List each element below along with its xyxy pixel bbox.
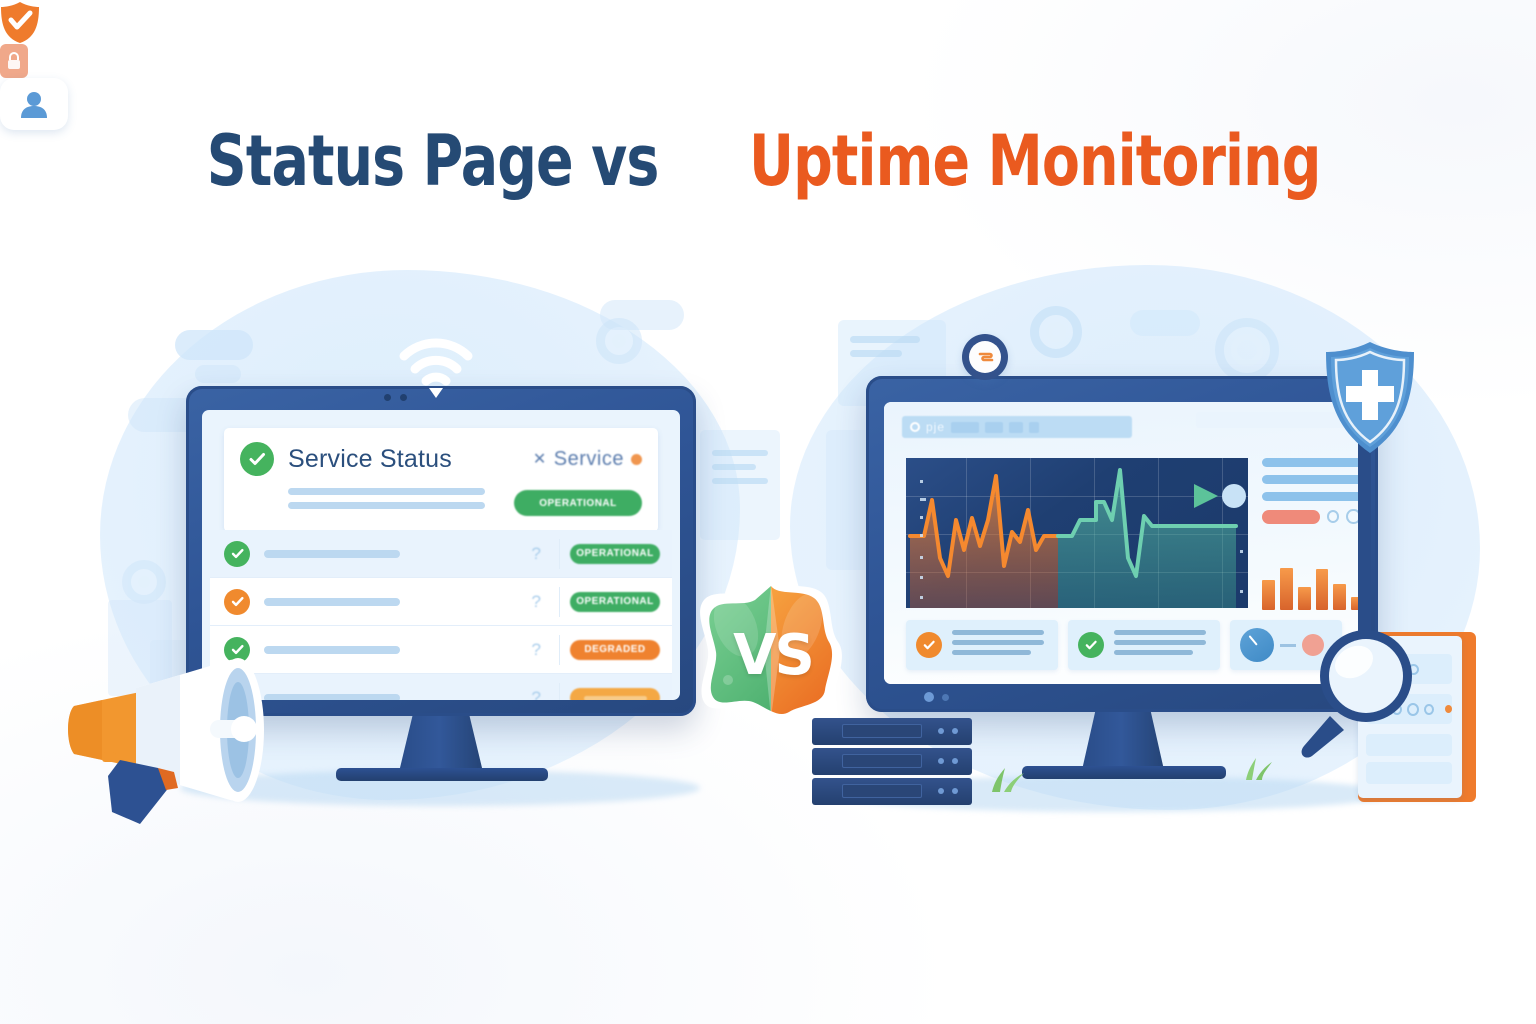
wifi-icon	[398, 336, 474, 398]
server-led	[952, 758, 958, 764]
check-circle-icon	[240, 442, 274, 476]
dashboard-side-panel	[1262, 458, 1360, 524]
webcam-dot	[384, 394, 391, 401]
background-cloud-icon	[195, 365, 241, 383]
row-value: ?	[532, 688, 549, 700]
url-placeholder-seg	[985, 422, 1003, 433]
vs-label: VS	[690, 580, 856, 730]
background-line	[712, 478, 768, 484]
status-badge[interactable]: Degraded	[570, 640, 660, 660]
status-badge[interactable]: Operational	[570, 544, 660, 564]
clipboard-row[interactable]	[1366, 762, 1452, 784]
magnifying-glass-icon	[1288, 620, 1418, 760]
background-gear-icon	[122, 560, 166, 604]
url-placeholder-seg	[1029, 422, 1039, 433]
mini-bar-chart	[1262, 552, 1360, 610]
circle-marker	[1222, 484, 1246, 508]
status-badge[interactable]	[1262, 510, 1320, 524]
background-line	[850, 336, 920, 343]
background-cloud-icon	[1130, 310, 1200, 336]
vs-badge: VS	[688, 576, 854, 726]
x-icon: ✕	[533, 449, 547, 469]
row-value: ?	[532, 544, 549, 564]
status-badge[interactable]: Operational	[514, 490, 642, 516]
chart-area-green	[1058, 470, 1236, 608]
background-line	[712, 464, 756, 470]
row-divider	[559, 539, 560, 569]
webcam-dot	[924, 692, 934, 702]
status-badge-inner	[584, 696, 647, 701]
placeholder-bar	[288, 488, 485, 495]
background-line	[700, 430, 780, 540]
chart-tick	[920, 534, 923, 537]
table-row[interactable]: ? Operational	[210, 578, 672, 626]
monitor-neck	[399, 716, 483, 772]
lock-icon	[0, 44, 28, 78]
check-circle-green-icon	[224, 541, 250, 567]
gear-badge-core	[969, 341, 1001, 373]
monitor-base	[336, 768, 548, 781]
gear-badge-icon	[962, 334, 1008, 380]
service-status-title: Service Status	[288, 445, 452, 474]
service-brand-label: ✕ Service	[533, 448, 642, 471]
grass-tuft	[986, 766, 1030, 792]
service-status-header: Service Status ✕ Service	[240, 442, 642, 476]
background-gear-icon	[1030, 306, 1082, 358]
response-time-chart	[906, 458, 1248, 608]
circle-icon	[1424, 704, 1434, 715]
bar	[1333, 584, 1346, 610]
grass-tuft	[1240, 756, 1280, 780]
server-led	[952, 788, 958, 794]
gauge-icon	[1240, 628, 1274, 662]
status-dot	[1445, 705, 1452, 713]
search-input[interactable]: pje	[902, 416, 1132, 438]
brand-text: Service	[554, 448, 624, 471]
circle-icon	[910, 422, 920, 432]
megaphone-icon	[62, 636, 322, 826]
placeholder-bar	[288, 502, 485, 509]
row-value: ?	[532, 592, 549, 612]
chart-tick	[920, 576, 923, 579]
play-triangle-marker	[1194, 484, 1218, 508]
row-name-placeholder	[264, 550, 400, 558]
bar	[1280, 568, 1293, 610]
chart-series-svg	[906, 458, 1248, 608]
brand-dot-icon	[631, 454, 642, 465]
server-led	[952, 728, 958, 734]
status-badge[interactable]: Operational	[570, 592, 660, 612]
row-divider	[559, 587, 560, 617]
server-stack-icon	[812, 718, 997, 810]
url-placeholder-seg	[951, 422, 979, 433]
card-placeholder-lines	[1114, 630, 1210, 660]
row-name-placeholder	[264, 598, 400, 606]
circle-icon	[1327, 510, 1339, 523]
bar	[1298, 587, 1311, 610]
service-status-card: Service Status ✕ Service Operational	[224, 428, 658, 532]
dashboard-cards	[906, 620, 1342, 670]
chart-tick	[1240, 550, 1243, 553]
placeholder-bar	[1262, 458, 1360, 467]
card-incident[interactable]	[906, 620, 1058, 670]
illustration-canvas: Status Page vs Uptime Monitoring	[0, 0, 1536, 1024]
service-status-subrows: Operational	[240, 488, 642, 516]
chart-tick	[920, 516, 923, 519]
server-slot	[842, 784, 922, 798]
chart-tick	[1240, 590, 1243, 593]
placeholder-bar	[1262, 492, 1360, 501]
check-circle-orange-icon	[224, 589, 250, 615]
bar	[1262, 580, 1275, 610]
url-text: pje	[926, 420, 945, 434]
server-led	[938, 788, 944, 794]
server-led	[938, 728, 944, 734]
server-unit	[812, 778, 972, 805]
card-placeholder-lines	[952, 630, 1048, 660]
chart-tick	[920, 498, 926, 501]
check-circle-orange-icon	[916, 632, 942, 658]
status-badge[interactable]	[570, 688, 660, 700]
background-gear-icon	[1215, 318, 1279, 382]
row-divider	[559, 683, 560, 700]
server-slot	[842, 754, 922, 768]
row-value: ?	[532, 640, 549, 660]
background-gear-icon	[596, 318, 642, 364]
monitor-neck	[1082, 712, 1164, 770]
webcam-dot	[942, 694, 949, 701]
page-title: Status Page vs Uptime Monitoring	[0, 120, 1536, 202]
card-operational[interactable]	[1068, 620, 1220, 670]
shield-cross-icon	[1322, 340, 1418, 455]
row-divider	[559, 635, 560, 665]
bar	[1316, 569, 1329, 610]
monitor-base	[1022, 766, 1226, 779]
server-led	[938, 758, 944, 764]
server-unit	[812, 748, 972, 775]
check-circle-green-icon	[1078, 632, 1104, 658]
chart-tick	[920, 480, 923, 483]
table-row[interactable]: ? Operational	[210, 530, 672, 578]
url-placeholder-seg	[1009, 422, 1023, 433]
background-line	[712, 450, 768, 456]
title-part-status-page: Status Page vs	[207, 120, 659, 202]
placeholder-bar	[1262, 475, 1360, 484]
title-part-uptime-monitoring: Uptime Monitoring	[749, 120, 1321, 202]
placeholder-bars	[240, 488, 502, 516]
background-cloud-icon	[175, 330, 253, 360]
chart-tick	[920, 596, 923, 599]
shield-check-icon	[0, 0, 40, 44]
chart-tick	[920, 556, 923, 559]
background-line	[850, 350, 902, 357]
